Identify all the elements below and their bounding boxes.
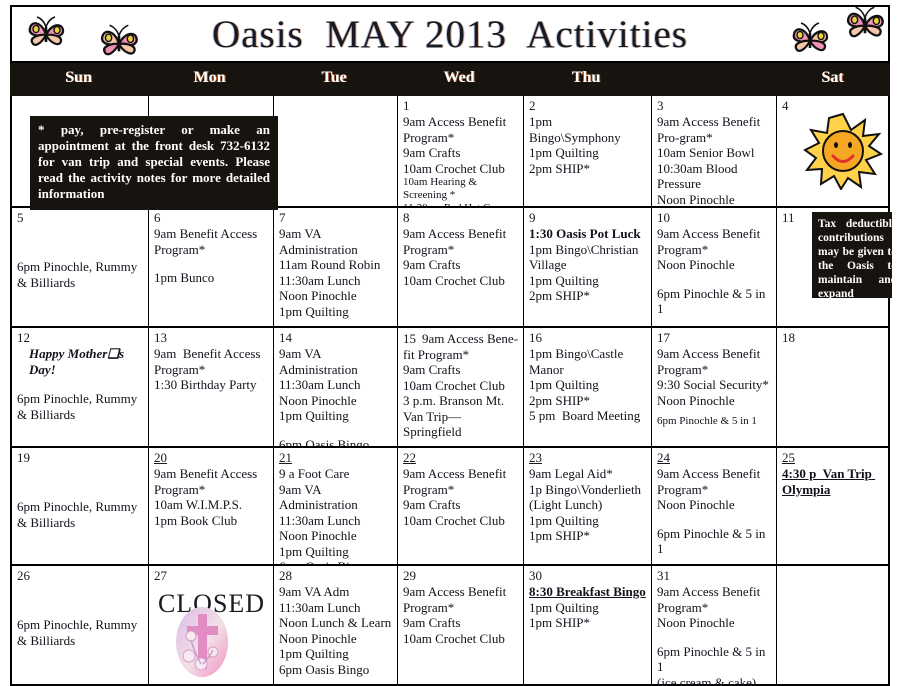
event-item: 9am Crafts bbox=[403, 145, 519, 161]
calendar-day-cell-17[interactable]: 179am Access Benefit Program*9:30 Social… bbox=[652, 328, 777, 446]
event-item: 10am Senior Bowl bbox=[657, 145, 772, 161]
event-item: 11:30am Lunch bbox=[279, 273, 393, 289]
event-item: 3 p.m. Branson Mt. bbox=[403, 393, 519, 409]
day-number: 17 bbox=[657, 331, 772, 345]
day-number: 22 bbox=[403, 451, 519, 465]
event-item: 1pm Bingo\Christian Village bbox=[529, 242, 647, 273]
day-number: 5 bbox=[17, 211, 144, 225]
day-number: 9 bbox=[529, 211, 647, 225]
event-item: 2pm SHIP* bbox=[529, 161, 647, 177]
event-item: 9am Access Benefit Program* bbox=[657, 226, 772, 257]
event-item: 10am Crochet Club bbox=[403, 378, 519, 394]
calendar-day-cell-27[interactable]: 27CLOSED bbox=[149, 566, 274, 686]
tax-note-box: Tax deductible contributions may be give… bbox=[812, 212, 892, 298]
day-events: 6pm Pinochle, Rummy & Billiards bbox=[17, 391, 144, 422]
calendar-week-row: 56pm Pinochle, Rummy & Billiards69am Ben… bbox=[12, 208, 888, 328]
day-number: 10 bbox=[657, 211, 772, 225]
event-item: Noon Pinochle bbox=[657, 393, 772, 409]
day-number: 6 bbox=[154, 211, 269, 225]
event-item: 2pm SHIP* bbox=[529, 288, 647, 304]
event-item: 11am Round Robin bbox=[279, 257, 393, 273]
day-number: 2 bbox=[529, 99, 647, 113]
calendar-day-cell-20[interactable]: 209am Benefit Access Program*10am W.I.M.… bbox=[149, 448, 274, 564]
weekday-label-wed: Wed bbox=[396, 69, 522, 87]
day-events: 9am Benefit Access Program*1pm Bunco bbox=[154, 226, 269, 286]
event-item: 9am VA Adm bbox=[279, 584, 393, 600]
calendar-day-cell-16[interactable]: 161pm Bingo\Castle Manor1pm Quilting2pm … bbox=[524, 328, 652, 446]
calendar-day-cell-1[interactable]: 19am Access Benefit Program*9am Crafts10… bbox=[398, 96, 524, 206]
event-item: 11:30am Lunch bbox=[279, 600, 393, 616]
event-item: 9am Benefit Access Program* bbox=[154, 226, 269, 257]
event-item: 9am Crafts bbox=[403, 362, 519, 378]
day-events: 6pm Pinochle, Rummy & Billiards bbox=[17, 499, 144, 530]
event-item: 10am Crochet Club bbox=[403, 631, 519, 647]
day-number: 18 bbox=[782, 331, 888, 345]
calendar-day-cell-12[interactable]: 12Happy Mother❑s Day!6pm Pinochle, Rummy… bbox=[12, 328, 149, 446]
weekday-label-mon: Mon bbox=[147, 69, 272, 87]
day-events: 1pm Bingo\Castle Manor1pm Quilting2pm SH… bbox=[529, 346, 647, 424]
calendar-day-cell-25[interactable]: 254:30 p Van Trip Olympia bbox=[777, 448, 892, 564]
event-item: Noon Pinochle bbox=[657, 615, 772, 631]
calendar-day-cell-empty[interactable]: * pay, pre-register or make an appointme… bbox=[12, 96, 149, 206]
title-banner: Oasis MAY 2013 Activities bbox=[10, 5, 890, 63]
event-item: 6pm Pinochle & 5 in 1 bbox=[657, 286, 772, 317]
day-events: 9am Access Benefit Program*Noon Pinochle… bbox=[657, 466, 772, 557]
day-events: 9am Access Benefit Program*9am Crafts10a… bbox=[403, 226, 519, 288]
calendar-day-cell-13[interactable]: 139am Benefit Access Program*1:30 Birthd… bbox=[149, 328, 274, 446]
calendar-day-cell-8[interactable]: 89am Access Benefit Program*9am Crafts10… bbox=[398, 208, 524, 326]
event-item: 6pm Pinochle, Rummy & Billiards bbox=[17, 391, 144, 422]
calendar-day-cell-6[interactable]: 69am Benefit Access Program*1pm Bunco bbox=[149, 208, 274, 326]
event-item: 6pm Oasis Bingo bbox=[279, 437, 393, 447]
event-item: 1p Bingo\Vonderlieth (Light Lunch) bbox=[529, 482, 647, 513]
event-item: 9am VA Administration bbox=[279, 346, 393, 377]
event-item: 1pm Quilting bbox=[529, 600, 647, 616]
event-item: 10am Crochet Club bbox=[403, 161, 519, 177]
event-item: 9am Access Benefit Program* bbox=[657, 466, 772, 497]
calendar-day-cell-7[interactable]: 79am VA Administration11am Round Robin11… bbox=[274, 208, 398, 326]
day-number: 1 bbox=[403, 99, 519, 113]
event-item: 10am Hearing & Screening * bbox=[403, 176, 519, 202]
day-events: 1pm Bingo\Symphony1pm Quilting2pm SHIP* bbox=[529, 114, 647, 176]
event-item: Noon Lunch & Learn bbox=[279, 615, 393, 631]
day-number: 29 bbox=[403, 569, 519, 583]
event-item: 9am Access Benefit Program* bbox=[403, 584, 519, 615]
calendar-day-cell-3[interactable]: 39am Access Benefit Pro-gram*10am Senior… bbox=[652, 96, 777, 206]
weekday-header-bar: SunMonTueWedThuSat bbox=[10, 63, 890, 96]
event-item: 9am Crafts bbox=[403, 257, 519, 273]
event-item: 11:30am Lunch bbox=[279, 513, 393, 529]
day-number: 13 bbox=[154, 331, 269, 345]
day-events: 9am Benefit Access Program*10am W.I.M.P.… bbox=[154, 466, 269, 528]
calendar-day-cell-23[interactable]: 239am Legal Aid*1p Bingo\Vonderlieth (Li… bbox=[524, 448, 652, 564]
event-item: 9am Access Benefit Pro-gram* bbox=[657, 114, 772, 145]
calendar-day-cell-5[interactable]: 56pm Pinochle, Rummy & Billiards bbox=[12, 208, 149, 326]
day-number: 16 bbox=[529, 331, 647, 345]
event-item: 9am VA Administration bbox=[279, 482, 393, 513]
calendar-day-cell-19[interactable]: 196pm Pinochle, Rummy & Billiards bbox=[12, 448, 149, 564]
event-item: 6pm Oasis Bingo bbox=[279, 559, 393, 564]
calendar-day-cell-11[interactable]: 11Tax deductible contributions may be gi… bbox=[777, 208, 892, 326]
calendar-page: Oasis MAY 2013 Activities bbox=[0, 0, 900, 686]
event-item: Noon Pinochle bbox=[279, 393, 393, 409]
day-number: 30 bbox=[529, 569, 647, 583]
calendar-grid: * pay, pre-register or make an appointme… bbox=[10, 96, 890, 686]
calendar-day-cell-26[interactable]: 266pm Pinochle, Rummy & Billiards bbox=[12, 566, 149, 686]
day-number: 27 bbox=[154, 569, 269, 583]
day-events: 9am VA Adm11:30am LunchNoon Lunch & Lear… bbox=[279, 584, 393, 677]
calendar-day-cell-2[interactable]: 21pm Bingo\Symphony1pm Quilting2pm SHIP* bbox=[524, 96, 652, 206]
event-item: 9am VA Administration bbox=[279, 226, 393, 257]
day-number: 15 bbox=[403, 331, 416, 346]
day-events: 9am Legal Aid*1p Bingo\Vonderlieth (Ligh… bbox=[529, 466, 647, 544]
calendar-day-cell-4[interactable]: 4 bbox=[777, 96, 892, 206]
event-item: Noon Pinochle bbox=[657, 257, 772, 273]
day-number: 12 bbox=[17, 331, 144, 345]
day-events: 6pm Pinochle, Rummy & Billiards bbox=[17, 259, 144, 290]
weekday-label-tue: Tue bbox=[272, 69, 396, 87]
event-item: 9am Access Benefit Program* bbox=[403, 226, 519, 257]
day-events: 9 a Foot Care9am VA Administration11:30a… bbox=[279, 466, 393, 564]
event-item: 1pm Quilting bbox=[279, 304, 393, 320]
day-events: 159am Access Bene-fit Program*9am Crafts… bbox=[403, 331, 519, 440]
day-events: 1:30 Oasis Pot Luck1pm Bingo\Christian V… bbox=[529, 226, 647, 304]
event-item: 1:30 Birthday Party bbox=[154, 377, 269, 393]
day-events: 9am Access Benefit Program*Noon Pinochle… bbox=[657, 584, 772, 686]
event-item: 1pm Quilting bbox=[529, 145, 647, 161]
day-events: 9am Access Benefit Program*9am Crafts10a… bbox=[403, 114, 519, 206]
event-item: 9am Legal Aid* bbox=[529, 466, 647, 482]
event-item: 6pm Pinochle & 5 in 1 bbox=[657, 526, 772, 557]
smiling-sun-icon bbox=[803, 112, 883, 190]
event-item: 9 a Foot Care bbox=[279, 466, 393, 482]
event-item: 9am Crafts bbox=[403, 497, 519, 513]
calendar-day-cell-22[interactable]: 229am Access Benefit Program*9am Crafts1… bbox=[398, 448, 524, 564]
event-item: (ice cream & cake) bbox=[657, 675, 772, 686]
event-item: 6pm Pinochle, Rummy & Billiards bbox=[17, 499, 144, 530]
calendar-day-cell-empty[interactable] bbox=[274, 96, 398, 206]
event-item: 9am Access Benefit Program* bbox=[403, 466, 519, 497]
mothers-day-label: Happy Mother❑s Day! bbox=[17, 346, 144, 378]
day-events: 9am Access Benefit Program*Noon Pinochle… bbox=[657, 226, 772, 317]
calendar-day-cell-29[interactable]: 299am Access Benefit Program*9am Crafts1… bbox=[398, 566, 524, 686]
event-item: 6pm Pinochle, Rummy & Billiards bbox=[17, 617, 144, 648]
day-number: 4 bbox=[782, 99, 888, 113]
event-item: 10am W.I.M.P.S. bbox=[154, 497, 269, 513]
calendar-day-cell-28[interactable]: 289am VA Adm11:30am LunchNoon Lunch & Le… bbox=[274, 566, 398, 686]
day-number: 23 bbox=[529, 451, 647, 465]
event-item: 1pm Bingo\Castle Manor bbox=[529, 346, 647, 377]
memorial-cross-icon bbox=[171, 606, 233, 678]
calendar-day-cell-14[interactable]: 149am VA Administration11:30am LunchNoon… bbox=[274, 328, 398, 446]
event-item: 1pm Quilting bbox=[279, 544, 393, 560]
day-events: 9am Access Benefit Program*9am Crafts10a… bbox=[403, 584, 519, 646]
day-number: 20 bbox=[154, 451, 269, 465]
day-number: 31 bbox=[657, 569, 772, 583]
event-item: 1pm Bunco bbox=[154, 270, 269, 286]
day-number: 7 bbox=[279, 211, 393, 225]
calendar-day-cell-30[interactable]: 308:30 Breakfast Bingo1pm Quilting1pm SH… bbox=[524, 566, 652, 686]
calendar-day-cell-empty[interactable] bbox=[777, 566, 892, 686]
day-events: 9am VA Administration11:30am LunchNoon P… bbox=[279, 346, 393, 446]
weekday-label-thu: Thu bbox=[522, 69, 650, 87]
weekday-label-sat: Sat bbox=[775, 69, 890, 87]
event-item: 159am Access Bene-fit Program* bbox=[403, 331, 519, 362]
event-item: 1pm Quilting bbox=[279, 646, 393, 662]
calendar-day-cell-9[interactable]: 91:30 Oasis Pot Luck1pm Bingo\Christian … bbox=[524, 208, 652, 326]
event-item: 9am Crafts bbox=[403, 615, 519, 631]
event-item: 1pm SHIP* bbox=[529, 528, 647, 544]
day-number: 19 bbox=[17, 451, 144, 465]
event-item: 2pm SHIP* bbox=[529, 393, 647, 409]
page-title: Oasis MAY 2013 Activities bbox=[212, 12, 688, 57]
event-item: 6pm Pinochle, Rummy & Billiards bbox=[17, 259, 144, 290]
event-item: 9am Access Benefit Program* bbox=[657, 346, 772, 377]
calendar-day-cell-15[interactable]: 159am Access Bene-fit Program*9am Crafts… bbox=[398, 328, 524, 446]
event-item: Van Trip—Springfield bbox=[403, 409, 519, 440]
event-item: Noon Pinochle bbox=[279, 288, 393, 304]
event-item: 6pm Pinochle & 5 in 1 bbox=[657, 644, 772, 675]
event-item: 11:30am Lunch bbox=[279, 377, 393, 393]
event-item: 1:30 Oasis Pot Luck bbox=[529, 226, 647, 242]
event-item: 5 pm Board Meeting bbox=[529, 408, 647, 424]
event-item: 1pm Quilting bbox=[529, 377, 647, 393]
day-events: 6pm Pinochle, Rummy & Billiards bbox=[17, 617, 144, 648]
day-events: 9am VA Administration11am Round Robin11:… bbox=[279, 226, 393, 326]
day-number: 14 bbox=[279, 331, 393, 345]
event-item: 9am Benefit Access Program* bbox=[154, 466, 269, 497]
calendar-week-row: * pay, pre-register or make an appointme… bbox=[12, 96, 888, 208]
event-text: 9am Access Bene-fit Program* bbox=[403, 331, 518, 362]
event-item: 10am Crochet Club bbox=[403, 513, 519, 529]
event-item: 9am Benefit Access Program* bbox=[154, 346, 269, 377]
event-item: 1pm Quilting bbox=[279, 408, 393, 424]
day-number: 3 bbox=[657, 99, 772, 113]
event-item: 10am Crochet Club bbox=[403, 273, 519, 289]
day-events: 9am Benefit Access Program*1:30 Birthday… bbox=[154, 346, 269, 393]
weekday-label-sun: Sun bbox=[10, 69, 147, 87]
calendar-day-cell-21[interactable]: 219 a Foot Care9am VA Administration11:3… bbox=[274, 448, 398, 564]
event-item: Noon Pinochle bbox=[279, 528, 393, 544]
event-item: 1pm Bingo\Symphony bbox=[529, 114, 647, 145]
day-number: 26 bbox=[17, 569, 144, 583]
day-number: 24 bbox=[657, 451, 772, 465]
legend-note-box: * pay, pre-register or make an appointme… bbox=[30, 116, 278, 210]
calendar-day-cell-24[interactable]: 249am Access Benefit Program*Noon Pinoch… bbox=[652, 448, 777, 564]
event-item: 6pm Pinochle & 5 in 1 bbox=[657, 415, 772, 428]
event-item: Noon Pinochle bbox=[657, 192, 772, 207]
calendar-day-cell-31[interactable]: 319am Access Benefit Program*Noon Pinoch… bbox=[652, 566, 777, 686]
day-events: 9am Access Benefit Program*9am Crafts10a… bbox=[403, 466, 519, 528]
event-item: 1pm Quilting bbox=[529, 273, 647, 289]
day-events: 9am Access Benefit Program*9:30 Social S… bbox=[657, 346, 772, 428]
day-number: 25 bbox=[782, 451, 888, 465]
event-item: 10:30am Blood Pressure bbox=[657, 161, 772, 192]
calendar-week-row: 196pm Pinochle, Rummy & Billiards209am B… bbox=[12, 448, 888, 566]
calendar-day-cell-18[interactable]: 18 bbox=[777, 328, 892, 446]
day-events: 9am Access Benefit Pro-gram*10am Senior … bbox=[657, 114, 772, 206]
event-item: 9:30 Social Security* bbox=[657, 377, 772, 393]
day-number: 28 bbox=[279, 569, 393, 583]
day-events: 8:30 Breakfast Bingo1pm Quilting1pm SHIP… bbox=[529, 584, 647, 631]
event-item: 11:30am Red Hat Group bbox=[403, 202, 519, 206]
event-item: 1pm Book Club bbox=[154, 513, 269, 529]
event-item: 8:30 Breakfast Bingo bbox=[529, 584, 647, 600]
event-item: Noon Pinochle bbox=[657, 497, 772, 513]
calendar-week-row: 266pm Pinochle, Rummy & Billiards27CLOSE… bbox=[12, 566, 888, 686]
day-events: 4:30 p Van Trip Olympia bbox=[782, 466, 888, 497]
calendar-day-cell-10[interactable]: 109am Access Benefit Program*Noon Pinoch… bbox=[652, 208, 777, 326]
event-item: Noon Pinochle bbox=[279, 631, 393, 647]
calendar-week-row: 12Happy Mother❑s Day!6pm Pinochle, Rummy… bbox=[12, 328, 888, 448]
event-item: 1pm SHIP* bbox=[529, 615, 647, 631]
event-item: 9am Access Benefit Program* bbox=[657, 584, 772, 615]
day-number: 8 bbox=[403, 211, 519, 225]
event-item: 9am Access Benefit Program* bbox=[403, 114, 519, 145]
day-number: 21 bbox=[279, 451, 393, 465]
event-item: 1pm Quilting bbox=[529, 513, 647, 529]
event-item: 6pm Oasis Bingo bbox=[279, 662, 393, 678]
event-item: 4:30 p Van Trip Olympia bbox=[782, 466, 888, 497]
